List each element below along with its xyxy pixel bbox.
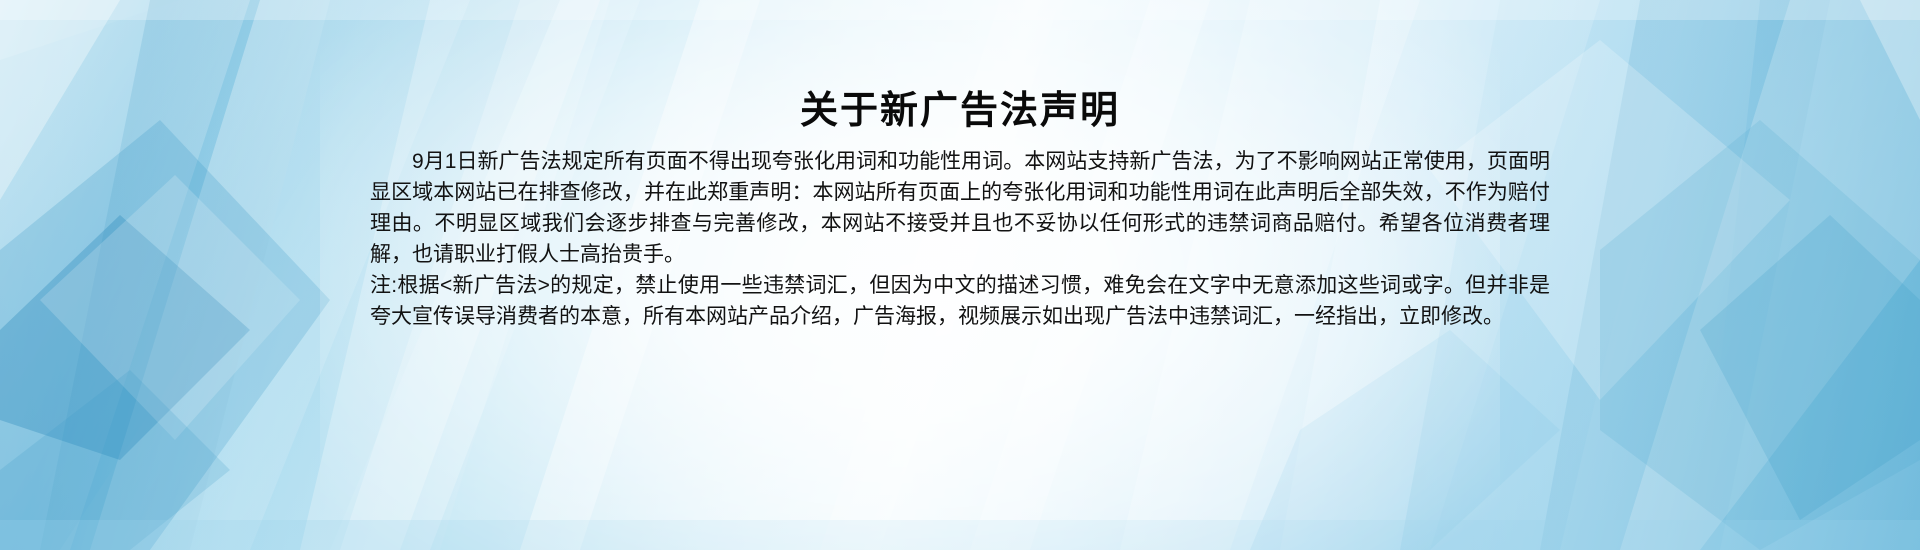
statement-paragraph-main: 9月1日新广告法规定所有页面不得出现夸张化用词和功能性用词。本网站支持新广告法，…: [370, 146, 1550, 270]
statement-content: 关于新广告法声明 9月1日新广告法规定所有页面不得出现夸张化用词和功能性用词。本…: [0, 0, 1920, 550]
statement-body: 9月1日新广告法规定所有页面不得出现夸张化用词和功能性用词。本网站支持新广告法，…: [370, 146, 1550, 332]
statement-paragraph-note: 注:根据<新广告法>的规定，禁止使用一些违禁词汇，但因为中文的描述习惯，难免会在…: [370, 270, 1550, 332]
advertising-law-statement-banner: 关于新广告法声明 9月1日新广告法规定所有页面不得出现夸张化用词和功能性用词。本…: [0, 0, 1920, 550]
page-title: 关于新广告法声明: [0, 88, 1920, 134]
